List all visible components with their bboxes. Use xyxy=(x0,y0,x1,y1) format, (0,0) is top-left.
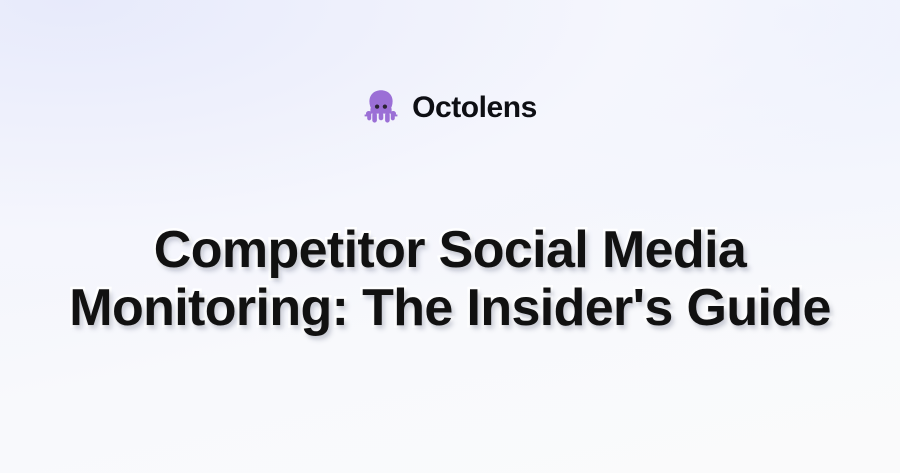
open-graph-card: Octolens Competitor Social Media Monitor… xyxy=(0,0,900,473)
page-title: Competitor Social Media Monitoring: The … xyxy=(0,221,900,337)
brand-logo-row: Octolens xyxy=(0,86,900,130)
page-title-text: Competitor Social Media Monitoring: The … xyxy=(69,221,830,337)
brand-name: Octolens xyxy=(412,93,537,123)
octopus-icon xyxy=(363,89,399,127)
